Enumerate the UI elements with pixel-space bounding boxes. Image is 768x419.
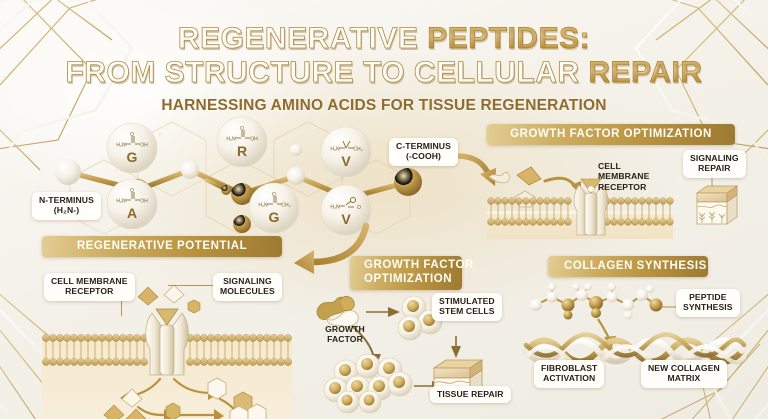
title-gold-2: REPAIR — [588, 56, 702, 89]
label-line-3: RECEPTOR — [598, 182, 682, 192]
svg-text:O: O — [130, 188, 134, 194]
label-line-1: CELL MEMBRANE — [51, 276, 128, 286]
skin-tissue-block-icon — [697, 171, 737, 224]
residue-R-3: O H₂N OH R — [216, 116, 268, 168]
label-line-2: MEMBRANE — [598, 171, 682, 181]
label-line-1: NEW COLLAGEN — [648, 363, 720, 373]
label-tissue-repair: TISSUE REPAIR — [430, 386, 511, 403]
residue-letter: G — [269, 210, 280, 224]
ligand-triangle-icon — [517, 167, 541, 185]
svg-text:H₂N: H₂N — [116, 143, 126, 149]
label-fibroblast-activation: FIBROBLAST ACTIVATION — [534, 360, 604, 388]
proliferated-cell-mass-icon — [324, 354, 412, 413]
title-gold-1: PEPTIDES: — [427, 22, 590, 55]
label-peptide-synthesis: PEPTIDE SYNTHESIS — [676, 289, 740, 317]
amino-formula-icon: O H₂N OH — [115, 132, 149, 149]
amino-formula-icon: O H₂N OH — [225, 126, 259, 143]
svg-text:H₂N: H₂N — [226, 137, 236, 143]
page-title-line-2: FROM STRUCTURE TO CELLULAR REPAIR — [0, 56, 768, 90]
residue-letter: G — [127, 150, 138, 164]
svg-text:O: O — [357, 205, 361, 211]
c-terminus-label-2: (-COOH) — [396, 151, 451, 161]
svg-text:H₂N: H₂N — [330, 205, 340, 211]
residue-A-2: O H₂N OH A — [106, 178, 158, 230]
residue-G-1: O H₂N OH G — [106, 122, 158, 174]
label-line-1: CELL — [598, 161, 682, 171]
ligand-binding-arrow-icon — [545, 178, 577, 189]
label-new-collagen-matrix: NEW COLLAGEN MATRIX — [641, 360, 727, 388]
svg-text:OH: OH — [140, 199, 148, 205]
signaling-hexagon-icon — [188, 300, 200, 313]
label-line-1: SIGNALING — [690, 153, 739, 163]
growth-factor-protein-icon — [317, 296, 358, 326]
svg-text:CH₃: CH₃ — [353, 147, 362, 153]
label-line-1: SIGNALING — [220, 276, 275, 286]
svg-text:H₂N: H₂N — [330, 147, 340, 153]
peptide-molecule-icon — [530, 283, 663, 320]
title-white-2: FROM STRUCTURE TO CELLULAR — [65, 56, 588, 89]
label-cell-membrane-receptor-top: CELL MEMBRANE RECEPTOR — [598, 161, 682, 192]
svg-text:CH₃: CH₃ — [281, 203, 290, 209]
svg-text:OH: OH — [250, 137, 258, 143]
svg-text:OH: OH — [140, 143, 148, 149]
n-terminus-label-2: (H₂N-) — [39, 205, 94, 215]
amino-formula-icon: H₂N CH₃ — [329, 136, 363, 153]
label-line-1: TISSUE REPAIR — [437, 389, 504, 399]
c-terminus-label-1: C-TERMINUS — [396, 141, 451, 151]
page-title-line-1: REGENERATIVE PEPTIDES: — [0, 22, 768, 56]
panel-title-regenerative-potential: REGENERATIVE POTENTIAL — [42, 236, 282, 257]
page-subtitle: HARNESSING AMINO ACIDS FOR TISSUE REGENE… — [0, 97, 768, 115]
product-hexagon-white-icon — [208, 378, 226, 399]
panel-title-growth-factor-top: GROWTH FACTOR OPTIMIZATION — [487, 124, 735, 145]
svg-text:O: O — [272, 192, 276, 198]
residue-letter: V — [341, 154, 350, 168]
page-header: REGENERATIVE PEPTIDES: FROM STRUCTURE TO… — [0, 22, 768, 115]
label-cell-membrane-receptor-bottom: CELL MEMBRANE RECEPTOR — [44, 273, 135, 301]
amino-formula-icon: O H₂N OH — [115, 188, 149, 205]
n-terminus-label-1: N-TERMINUS — [39, 195, 94, 205]
n-terminus-callout: N-TERMINUS (H₂N-) — [32, 192, 101, 220]
label-line-1: GROWTH — [312, 324, 378, 334]
label-line-2: ACTIVATION — [541, 373, 597, 383]
leader-line-signaling — [168, 285, 213, 286]
svg-text:O: O — [240, 126, 244, 132]
c-terminus-callout: C-TERMINUS (-COOH) — [389, 138, 458, 166]
svg-text:O: O — [130, 132, 134, 138]
amino-formula-icon: H₂N O — [329, 194, 363, 211]
panel-regenerative-potential: REGENERATIVE POTENTIAL — [42, 236, 292, 412]
signaling-triangle-gold-icon — [138, 287, 158, 305]
svg-text:H₂N: H₂N — [258, 203, 268, 209]
membrane-receptor-icon — [146, 309, 189, 375]
panel-title-line-1: GROWTH FACTOR — [364, 259, 448, 273]
label-stimulated-stem-cells: STIMULATED STEM CELLS — [432, 293, 502, 321]
residue-letter: A — [127, 206, 137, 220]
label-signaling-repair: SIGNALING REPAIR — [683, 150, 746, 178]
panel-title-collagen-synthesis: COLLAGEN SYNTHESIS — [548, 256, 708, 277]
label-line-1: STIMULATED — [439, 296, 495, 306]
title-white-1: REGENERATIVE — [178, 22, 427, 55]
label-line-1: PEPTIDE — [683, 292, 733, 302]
label-line-2: RECEPTOR — [51, 286, 128, 296]
label-line-2: STEM CELLS — [439, 306, 495, 316]
signaling-triangle-white-icon — [164, 285, 184, 303]
label-line-2: REPAIR — [690, 163, 739, 173]
label-line-2: MATRIX — [648, 373, 720, 383]
label-line-2: FACTOR — [312, 334, 378, 344]
label-line-1: FIBROBLAST — [541, 363, 597, 373]
label-line-2: MOLECULES — [220, 286, 275, 296]
label-line-2: SYNTHESIS — [683, 302, 733, 312]
label-signaling-molecules: SIGNALING MOLECULES — [213, 273, 282, 301]
residue-letter: R — [237, 144, 247, 158]
svg-text:H₂N: H₂N — [116, 199, 126, 205]
residue-V-5: H₂N CH₃ V — [320, 126, 372, 178]
panel-title-line-2: OPTIMIZATION — [364, 273, 448, 287]
amino-formula-icon: O H₂N CH₃ — [257, 192, 291, 209]
label-growth-factor: GROWTH FACTOR — [312, 324, 378, 345]
panel-title-growth-factor-bottom: GROWTH FACTOR OPTIMIZATION — [350, 256, 462, 290]
